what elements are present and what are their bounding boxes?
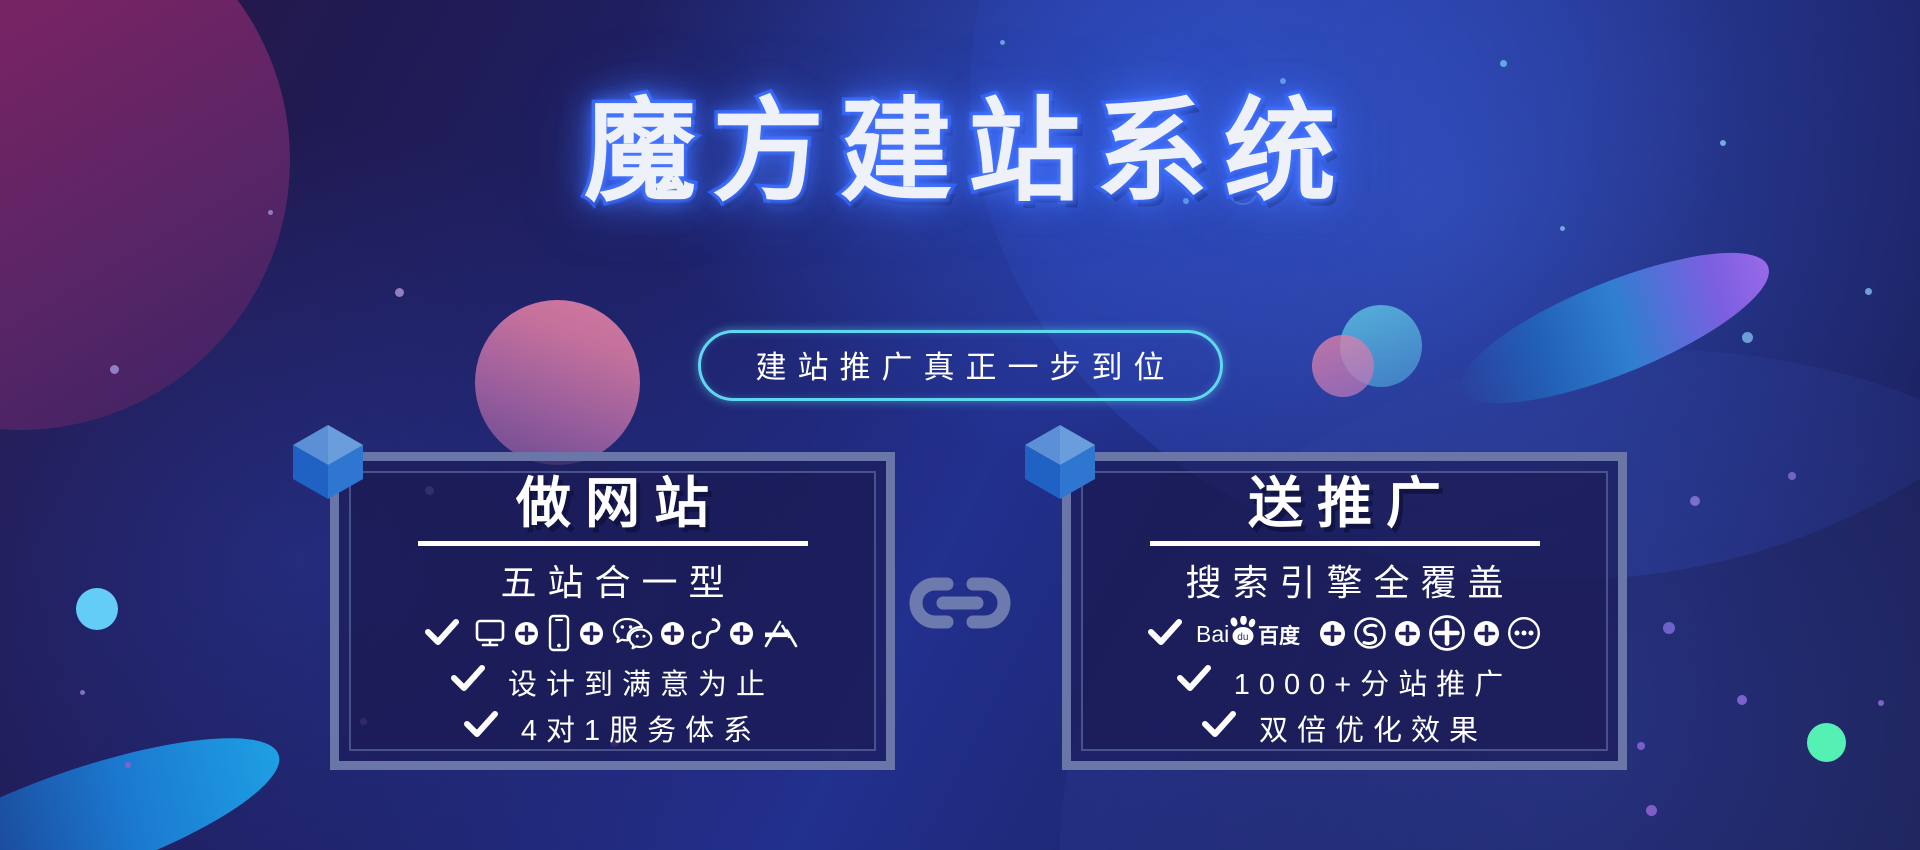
check-icon — [451, 664, 485, 699]
star-dot — [1637, 742, 1645, 750]
star-dot — [80, 690, 85, 695]
card-title: 做网站 — [502, 473, 723, 535]
cyan-dot — [76, 588, 118, 630]
svg-text:du: du — [1237, 632, 1248, 643]
platform-icon-strip — [473, 614, 801, 657]
check-icon — [1177, 664, 1211, 699]
360-search-icon — [1428, 614, 1466, 657]
bottom-left-comet — [0, 705, 296, 850]
check-icon — [425, 618, 459, 653]
star-dot — [1788, 472, 1796, 480]
feature-row: 1000+分站推广 — [1177, 661, 1512, 703]
star-dot — [1500, 60, 1507, 67]
plus-icon — [514, 621, 539, 651]
top-right-comet — [1445, 224, 1785, 433]
title-divider — [418, 541, 808, 546]
feature-label: 1000+分站推广 — [1225, 661, 1512, 703]
feature-label: 设计到满意为止 — [499, 661, 774, 703]
wechat-icon — [611, 616, 653, 655]
baidu-logo-icon: Bai du 百度 — [1196, 616, 1312, 655]
search-engine-icon-strip: Bai du 百度 — [1196, 614, 1541, 657]
plus-icon — [579, 621, 604, 651]
chain-link-icon — [905, 572, 1015, 639]
plus-icon — [1394, 620, 1421, 652]
star-dot — [1878, 700, 1884, 706]
star-dot — [1865, 288, 1872, 295]
star-dot — [395, 288, 404, 297]
promo-banner: 魔方建站系统 建站推广真正一步到位 做网站 五站 — [0, 0, 1920, 850]
plus-icon — [1473, 620, 1500, 652]
card-subtitle: 五站合一型 — [489, 554, 735, 606]
subtitle-block: 建站推广真正一步到位 — [0, 330, 1920, 401]
card-make-website[interactable]: 做网站 五站合一型 — [330, 452, 895, 770]
desktop-monitor-icon — [473, 616, 507, 655]
star-dot — [1690, 496, 1700, 506]
card-content: 做网站 五站合一型 — [339, 461, 886, 761]
svg-text:Bai: Bai — [1196, 621, 1229, 647]
card-subtitle: 搜索引擎全覆盖 — [1174, 554, 1514, 606]
sogou-icon — [1353, 616, 1387, 655]
star-dot — [1646, 805, 1657, 816]
star-dot — [1737, 695, 1747, 705]
subtitle-pill: 建站推广真正一步到位 — [698, 330, 1223, 401]
app-store-icon — [761, 616, 801, 655]
weibo-icon — [692, 615, 722, 656]
star-dot — [268, 210, 273, 215]
mint-dot — [1807, 723, 1846, 762]
star-dot — [1000, 40, 1005, 45]
more-ellipsis-icon — [1507, 616, 1541, 655]
plus-icon — [1319, 620, 1346, 652]
main-title: 魔方建站系统 — [568, 96, 1352, 208]
title-block: 魔方建站系统 — [0, 96, 1920, 208]
feature-label: 4对1服务体系 — [512, 707, 761, 749]
svg-text:百度: 百度 — [1258, 624, 1300, 648]
plus-icon — [729, 621, 754, 651]
title-divider — [1150, 541, 1540, 546]
star-dot — [1560, 226, 1565, 231]
check-icon — [464, 710, 498, 745]
mobile-phone-icon — [546, 614, 572, 657]
feature-row-icons: Bai du 百度 — [1148, 615, 1541, 657]
feature-row: 设计到满意为止 — [451, 661, 774, 703]
star-dot — [1280, 78, 1286, 84]
star-dot — [1663, 622, 1675, 634]
plus-icon — [660, 621, 685, 651]
star-dot — [125, 762, 131, 768]
feature-row-icons — [425, 615, 801, 657]
card-content: 送推广 搜索引擎全覆盖 Bai — [1071, 461, 1618, 761]
check-icon — [1202, 710, 1236, 745]
card-free-promotion[interactable]: 送推广 搜索引擎全覆盖 Bai — [1062, 452, 1627, 770]
card-title: 送推广 — [1234, 473, 1455, 535]
check-icon — [1148, 618, 1182, 653]
feature-label: 双倍优化效果 — [1250, 707, 1487, 749]
feature-row: 双倍优化效果 — [1202, 707, 1487, 749]
feature-row: 4对1服务体系 — [464, 707, 761, 749]
